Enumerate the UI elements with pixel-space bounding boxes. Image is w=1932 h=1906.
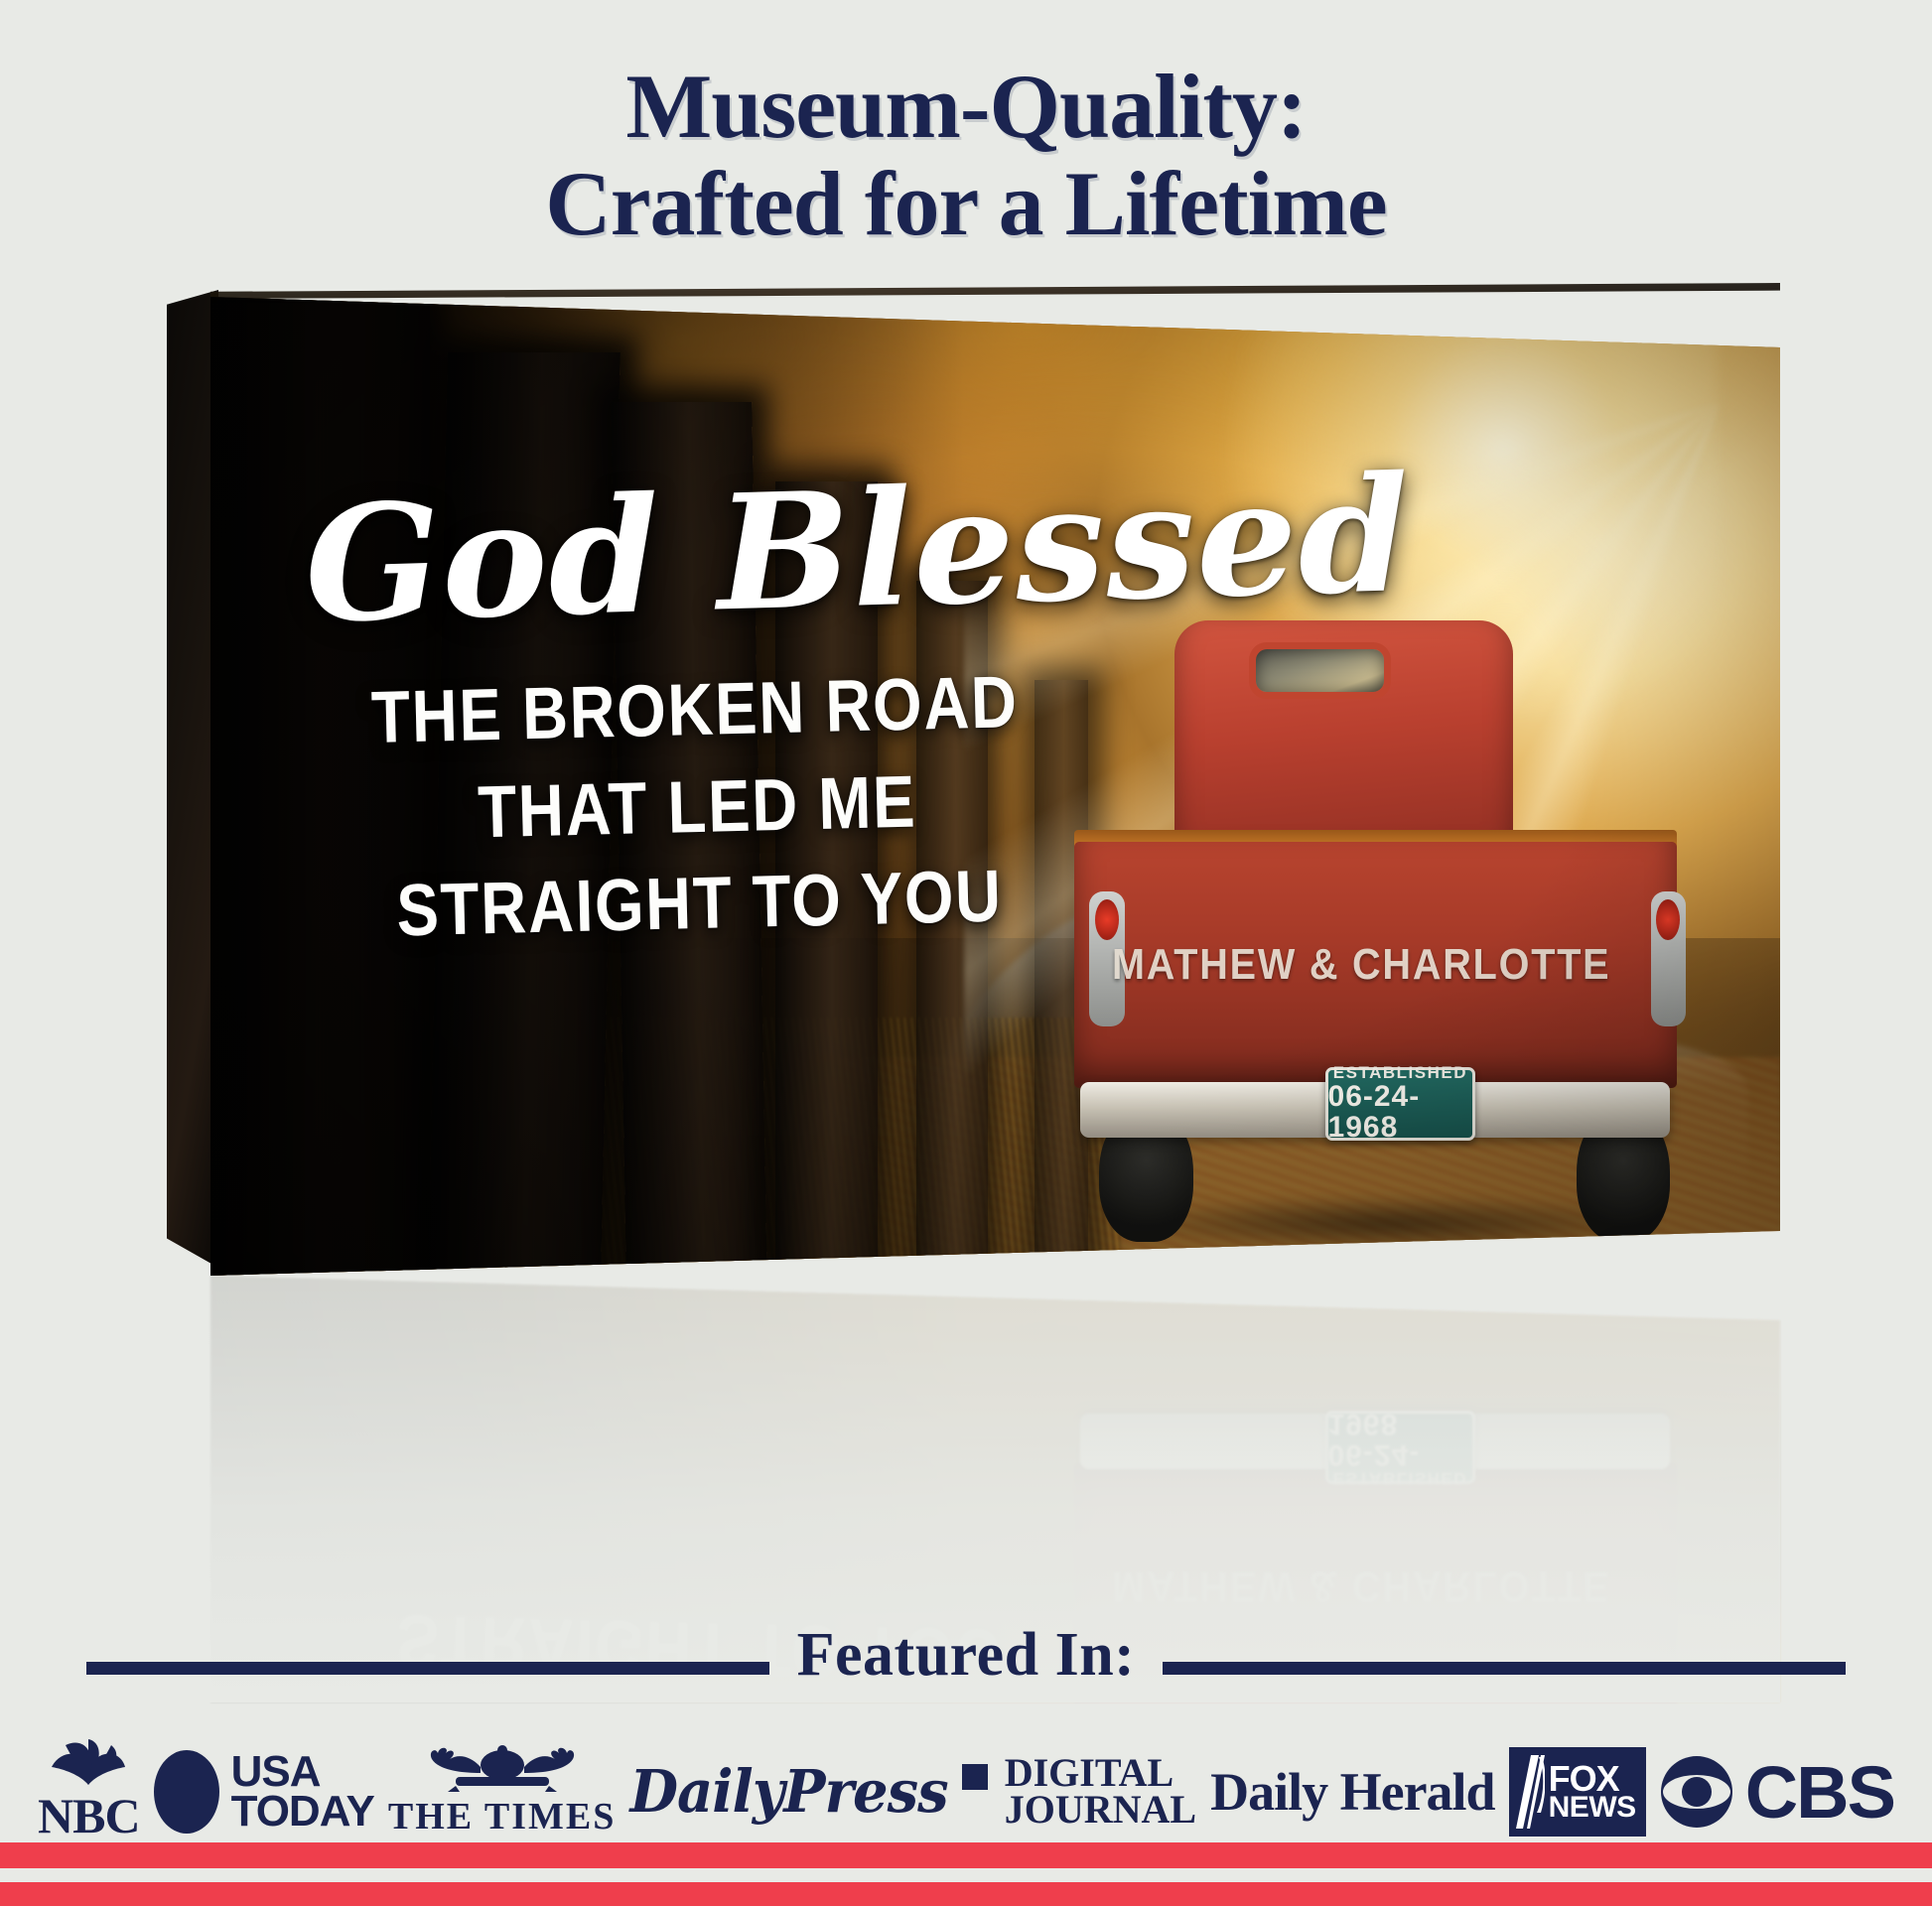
canvas-print-product: MATHEW & CHARLOTTE ESTABLISHED 06-24-196… <box>167 283 1780 1276</box>
page-title-line-2: Crafted for a Lifetime <box>0 155 1932 252</box>
page-title: Museum-Quality: Crafted for a Lifetime <box>0 58 1932 253</box>
bottom-accent-bar-gap <box>0 1868 1932 1882</box>
logo-digital-journal-line-2: JOURNAL <box>1005 1792 1196 1829</box>
featured-rule-left <box>86 1662 769 1675</box>
artwork-subline-2: THAT LED ME <box>358 750 1035 864</box>
logo-daily-herald[interactable]: Daily Herald <box>1210 1761 1494 1823</box>
artwork-text-block: God Blessed THE BROKEN ROAD THAT LED ME … <box>305 481 1090 952</box>
reflection-plate-label: ESTABLISHED <box>1333 1470 1467 1487</box>
logo-nbc[interactable]: NBC <box>38 1739 140 1844</box>
logo-digital-journal[interactable]: DIGITAL JOURNAL <box>962 1755 1196 1829</box>
logo-the-times[interactable]: THE TIMES <box>388 1745 617 1838</box>
artwork-script-heading: God Blessed <box>303 471 1091 638</box>
page-title-line-1: Museum-Quality: <box>0 58 1932 155</box>
bottom-accent-bar-top <box>0 1842 1932 1868</box>
featured-rule-right <box>1163 1662 1846 1675</box>
artwork-subline-1: THE BROKEN ROAD <box>356 653 1034 766</box>
logo-daily-press-word-1: Daily <box>629 1757 783 1827</box>
press-logo-row: NBC USA TODAY THE TIMES DailyPress <box>0 1739 1932 1844</box>
logo-daily-herald-label: Daily Herald <box>1210 1761 1494 1823</box>
canvas-wrapped-top-edge <box>210 283 1780 299</box>
logo-nbc-label: NBC <box>38 1787 140 1844</box>
featured-in-label: Featured In: <box>797 1620 1136 1691</box>
usa-today-dot-icon <box>154 1750 219 1834</box>
artwork-subheading-block: THE BROKEN ROAD THAT LED ME STRAIGHT TO … <box>301 652 1092 962</box>
featured-in-section: Featured In: <box>0 1633 1932 1703</box>
square-bullet-icon <box>962 1764 988 1790</box>
logo-usa-today-line-1: USA <box>231 1752 374 1792</box>
times-crest-icon <box>428 1745 577 1793</box>
bottom-accent-bar-bottom <box>0 1882 1932 1906</box>
logo-the-times-label: THE TIMES <box>388 1795 617 1838</box>
logo-cbs-label: CBS <box>1745 1750 1894 1835</box>
fox-slash-icon <box>1515 1755 1545 1829</box>
logo-fox-news-line-2: NEWS <box>1549 1795 1636 1821</box>
autumn-road-scene: MATHEW & CHARLOTTE ESTABLISHED 06-24-196… <box>210 283 1780 1276</box>
logo-cbs[interactable]: CBS <box>1660 1750 1894 1835</box>
reflection-plate-date: 06-24-1968 <box>1328 1408 1473 1470</box>
reflection-tailgate-name: MATHEW & CHARLOTTE <box>1112 1562 1542 1611</box>
nbc-peacock-icon <box>46 1739 131 1785</box>
logo-daily-press-word-2: Press <box>783 1757 947 1827</box>
logo-fox-news-line-1: FOX <box>1549 1763 1636 1795</box>
logo-fox-news[interactable]: FOX NEWS <box>1509 1747 1646 1837</box>
canvas-printed-face: MATHEW & CHARLOTTE ESTABLISHED 06-24-196… <box>210 283 1780 1276</box>
cbs-eye-icon <box>1660 1755 1733 1829</box>
artwork-subline-3: STRAIGHT TO YOU <box>360 847 1037 960</box>
logo-usa-today[interactable]: USA TODAY <box>154 1750 374 1834</box>
logo-usa-today-line-2: TODAY <box>231 1792 374 1832</box>
logo-daily-press[interactable]: DailyPress <box>629 1759 947 1825</box>
